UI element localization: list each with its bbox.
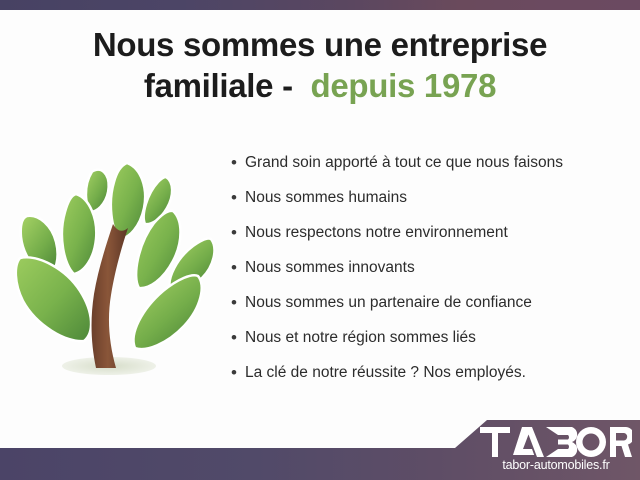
page-title-line-2-prefix: familiale -: [144, 67, 311, 104]
bullet-icon: •: [231, 326, 245, 350]
list-item: • Nous et notre région sommes liés: [231, 326, 631, 361]
tree-illustration: [8, 138, 222, 390]
bullet-icon: •: [231, 291, 245, 315]
logo-wordmark-tabor: [480, 427, 632, 457]
list-item-label: Nous et notre région sommes liés: [245, 326, 476, 350]
list-item: • Grand soin apporté à tout ce que nous …: [231, 151, 631, 186]
list-item: • La clé de notre réussite ? Nos employé…: [231, 361, 631, 396]
bullet-icon: •: [231, 151, 245, 175]
slide-root: Nous sommes une entreprise familiale - d…: [0, 0, 640, 480]
list-item-label: Nous sommes un partenaire de confiance: [245, 291, 532, 315]
page-title-line-1: Nous sommes une entreprise: [0, 26, 640, 65]
list-item-label: La clé de notre réussite ? Nos employés.: [245, 361, 526, 385]
value-bullet-list: • Grand soin apporté à tout ce que nous …: [231, 151, 631, 396]
logo-tagline: tabor-automobiles.fr: [480, 458, 632, 472]
list-item: • Nous sommes un partenaire de confiance: [231, 291, 631, 326]
logo-letter-r: [610, 427, 632, 457]
list-item-label: Nous sommes humains: [245, 186, 407, 210]
brand-logo[interactable]: tabor-automobiles.fr: [480, 427, 632, 472]
page-title-line-2: familiale - depuis 1978: [0, 67, 640, 106]
bullet-icon: •: [231, 186, 245, 210]
leaf-top-center: [111, 163, 145, 239]
logo-letter-o: [576, 427, 606, 457]
top-accent-bar: [0, 0, 640, 10]
tree-trunk: [92, 224, 128, 368]
bullet-icon: •: [231, 361, 245, 385]
page-title: Nous sommes une entreprise familiale - d…: [0, 26, 640, 106]
bullet-icon: •: [231, 256, 245, 280]
bullet-icon: •: [231, 221, 245, 245]
list-item-label: Nous respectons notre environnement: [245, 221, 508, 245]
list-item-label: Nous sommes innovants: [245, 256, 415, 280]
logo-letter-a: [513, 427, 544, 457]
page-title-accent: depuis 1978: [311, 67, 497, 104]
logo-letter-t: [480, 427, 510, 457]
logo-letter-b: [546, 427, 577, 457]
list-item: • Nous sommes innovants: [231, 256, 631, 291]
list-item: • Nous sommes humains: [231, 186, 631, 221]
list-item-label: Grand soin apporté à tout ce que nous fa…: [245, 151, 563, 175]
list-item: • Nous respectons notre environnement: [231, 221, 631, 256]
